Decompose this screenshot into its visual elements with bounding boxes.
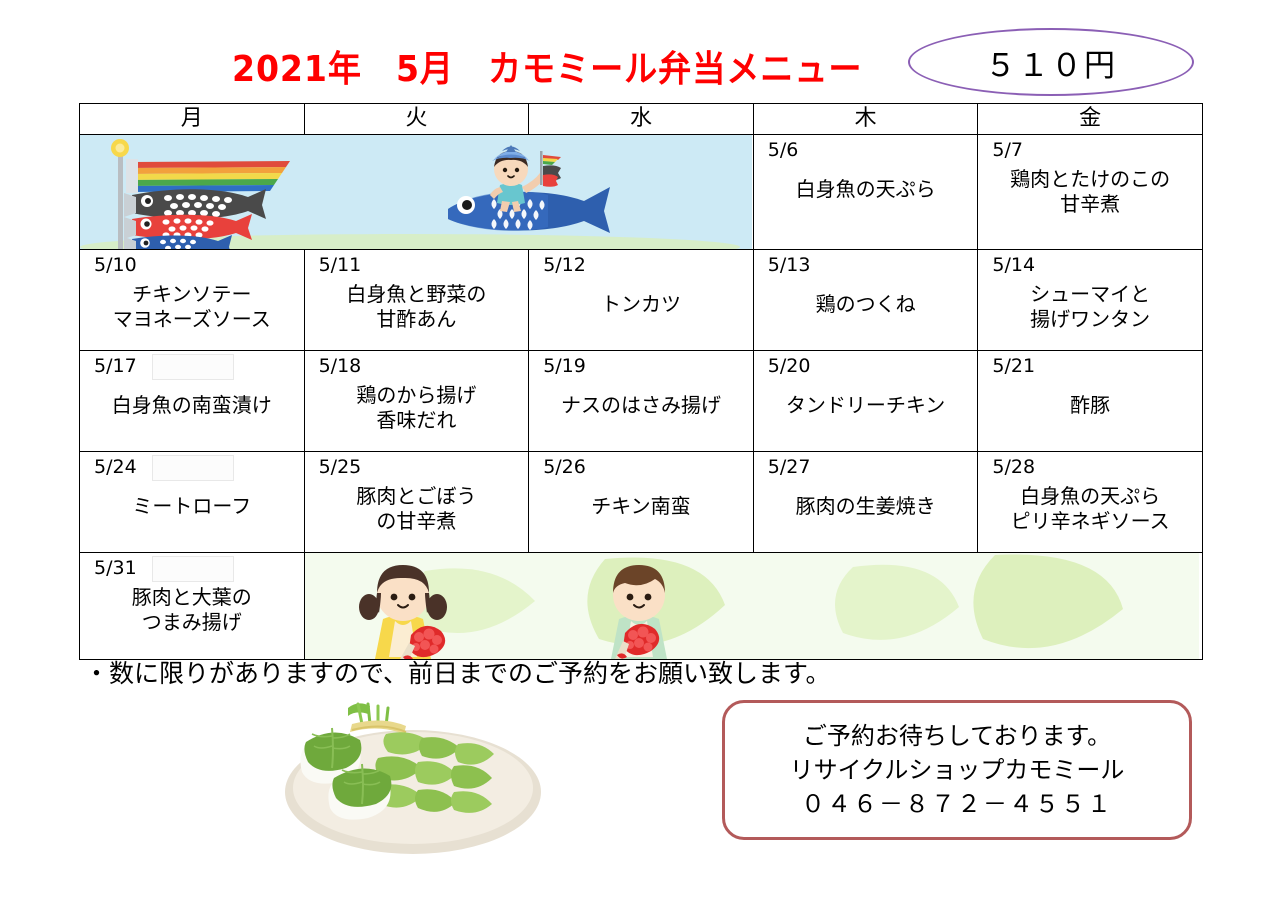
- contact-shop-name: リサイクルショップカモミール: [790, 753, 1125, 787]
- calendar-cell-05-20: 5/20 タンドリーチキン: [753, 351, 978, 452]
- calendar-cell-05-19: 5/19 ナスのはさみ揚げ: [529, 351, 754, 452]
- cell-menu: 白身魚の天ぷら ピリ辛ネギソース: [978, 478, 1202, 534]
- cell-menu: シューマイと 揚げワンタン: [978, 276, 1202, 332]
- cell-menu: チキンソテー マヨネーズソース: [80, 276, 304, 332]
- cell-date: 5/18: [305, 351, 529, 377]
- calendar-week-row-3: 5/17 白身魚の南蛮漬け 5/18 鶏のから揚げ 香味だれ 5/19 ナスのは…: [80, 351, 1203, 452]
- cell-date: 5/12: [529, 250, 753, 276]
- cell-date: 5/7: [978, 135, 1202, 161]
- koinobori-illustration-cell: [80, 135, 754, 250]
- cell-menu: 豚肉と大葉の つまみ揚げ: [80, 579, 304, 635]
- calendar-cell-05-18: 5/18 鶏のから揚げ 香味だれ: [304, 351, 529, 452]
- page-title: 2021年 5月 カモミール弁当メニュー: [232, 40, 862, 92]
- calendar-cell-05-06: 5/6 白身魚の天ぷら: [753, 135, 978, 250]
- cell-date: 5/13: [754, 250, 978, 276]
- menu-calendar: 月 火 水 木 金: [79, 103, 1203, 660]
- cell-date: 5/6: [754, 135, 978, 161]
- cell-menu: ミートローフ: [80, 478, 304, 519]
- reservation-note: ・数に限りがありますので、前日までのご予約をお願い致します。: [84, 654, 831, 690]
- calendar-cell-05-31: 5/31 豚肉と大葉の つまみ揚げ: [80, 553, 305, 660]
- cell-menu: 豚肉とごぼう の甘辛煮: [305, 478, 529, 534]
- cell-date: 5/27: [754, 452, 978, 478]
- cell-menu: チキン南蛮: [529, 478, 753, 519]
- calendar-cell-05-28: 5/28 白身魚の天ぷら ピリ辛ネギソース: [978, 452, 1203, 553]
- cell-menu: 白身魚の天ぷら: [754, 161, 978, 202]
- weekday-header-tuesday: 火: [304, 104, 529, 135]
- cell-date: 5/31: [80, 553, 304, 579]
- calendar-cell-05-14: 5/14 シューマイと 揚げワンタン: [978, 250, 1203, 351]
- calendar-cell-05-17: 5/17 白身魚の南蛮漬け: [80, 351, 305, 452]
- cell-date: 5/28: [978, 452, 1202, 478]
- cell-menu: トンカツ: [529, 276, 753, 317]
- cell-date: 5/17: [80, 351, 304, 377]
- calendar-week-row-5: 5/31 豚肉と大葉の つまみ揚げ: [80, 553, 1203, 660]
- cell-menu: 白身魚の南蛮漬け: [80, 377, 304, 418]
- cell-menu: 酢豚: [978, 377, 1202, 418]
- cell-date: 5/26: [529, 452, 753, 478]
- contact-phone[interactable]: ０４６－８７２－４５５１: [801, 787, 1113, 821]
- calendar-cell-05-11: 5/11 白身魚と野菜の 甘酢あん: [304, 250, 529, 351]
- weekday-header-wednesday: 水: [529, 104, 754, 135]
- price-label: ５１０円: [985, 40, 1117, 85]
- calendar-week-row-2: 5/10 チキンソテー マヨネーズソース 5/11 白身魚と野菜の 甘酢あん 5…: [80, 250, 1203, 351]
- weekday-header-thursday: 木: [753, 104, 978, 135]
- calendar-week-row-4: 5/24 ミートローフ 5/25 豚肉とごぼう の甘辛煮 5/26 チキン南蛮 …: [80, 452, 1203, 553]
- cell-date: 5/20: [754, 351, 978, 377]
- cell-menu: 豚肉の生姜焼き: [754, 478, 978, 519]
- weekday-header-friday: 金: [978, 104, 1203, 135]
- calendar-cell-05-21: 5/21 酢豚: [978, 351, 1203, 452]
- cell-date: 5/19: [529, 351, 753, 377]
- cell-date: 5/25: [305, 452, 529, 478]
- cell-date: 5/10: [80, 250, 304, 276]
- cell-menu: 白身魚と野菜の 甘酢あん: [305, 276, 529, 332]
- calendar-week-row-1: 5/6 白身魚の天ぷら 5/7 鶏肉とたけのこの 甘辛煮: [80, 135, 1203, 250]
- kashiwamochi-chimaki-illustration: [282, 700, 544, 860]
- calendar-cell-05-27: 5/27 豚肉の生姜焼き: [753, 452, 978, 553]
- page-header: 2021年 5月 カモミール弁当メニュー ５１０円: [0, 0, 1280, 96]
- cell-date: 5/11: [305, 250, 529, 276]
- cell-menu: ナスのはさみ揚げ: [529, 377, 753, 418]
- cell-menu: 鶏のつくね: [754, 276, 978, 317]
- calendar-cell-05-26: 5/26 チキン南蛮: [529, 452, 754, 553]
- koinobori-illustration: [80, 135, 753, 249]
- calendar-cell-05-07: 5/7 鶏肉とたけのこの 甘辛煮: [978, 135, 1203, 250]
- cell-date: 5/21: [978, 351, 1202, 377]
- weekday-header-monday: 月: [80, 104, 305, 135]
- cell-menu: 鶏のから揚げ 香味だれ: [305, 377, 529, 433]
- calendar-cell-05-25: 5/25 豚肉とごぼう の甘辛煮: [304, 452, 529, 553]
- contact-box: ご予約お待ちしております。 リサイクルショップカモミール ０４６－８７２－４５５…: [722, 700, 1192, 840]
- carnation-children-illustration-cell: [304, 553, 1202, 660]
- carnation-children-illustration: [305, 553, 1202, 659]
- calendar-cell-05-12: 5/12 トンカツ: [529, 250, 754, 351]
- price-badge: ５１０円: [908, 28, 1194, 96]
- cell-date: 5/24: [80, 452, 304, 478]
- calendar-cell-05-10: 5/10 チキンソテー マヨネーズソース: [80, 250, 305, 351]
- cell-menu: タンドリーチキン: [754, 377, 978, 418]
- calendar-cell-05-13: 5/13 鶏のつくね: [753, 250, 978, 351]
- cell-menu: 鶏肉とたけのこの 甘辛煮: [978, 161, 1202, 217]
- contact-line-1: ご予約お待ちしております。: [803, 719, 1111, 753]
- calendar-cell-05-24: 5/24 ミートローフ: [80, 452, 305, 553]
- cell-date: 5/14: [978, 250, 1202, 276]
- calendar-header-row: 月 火 水 木 金: [80, 104, 1203, 135]
